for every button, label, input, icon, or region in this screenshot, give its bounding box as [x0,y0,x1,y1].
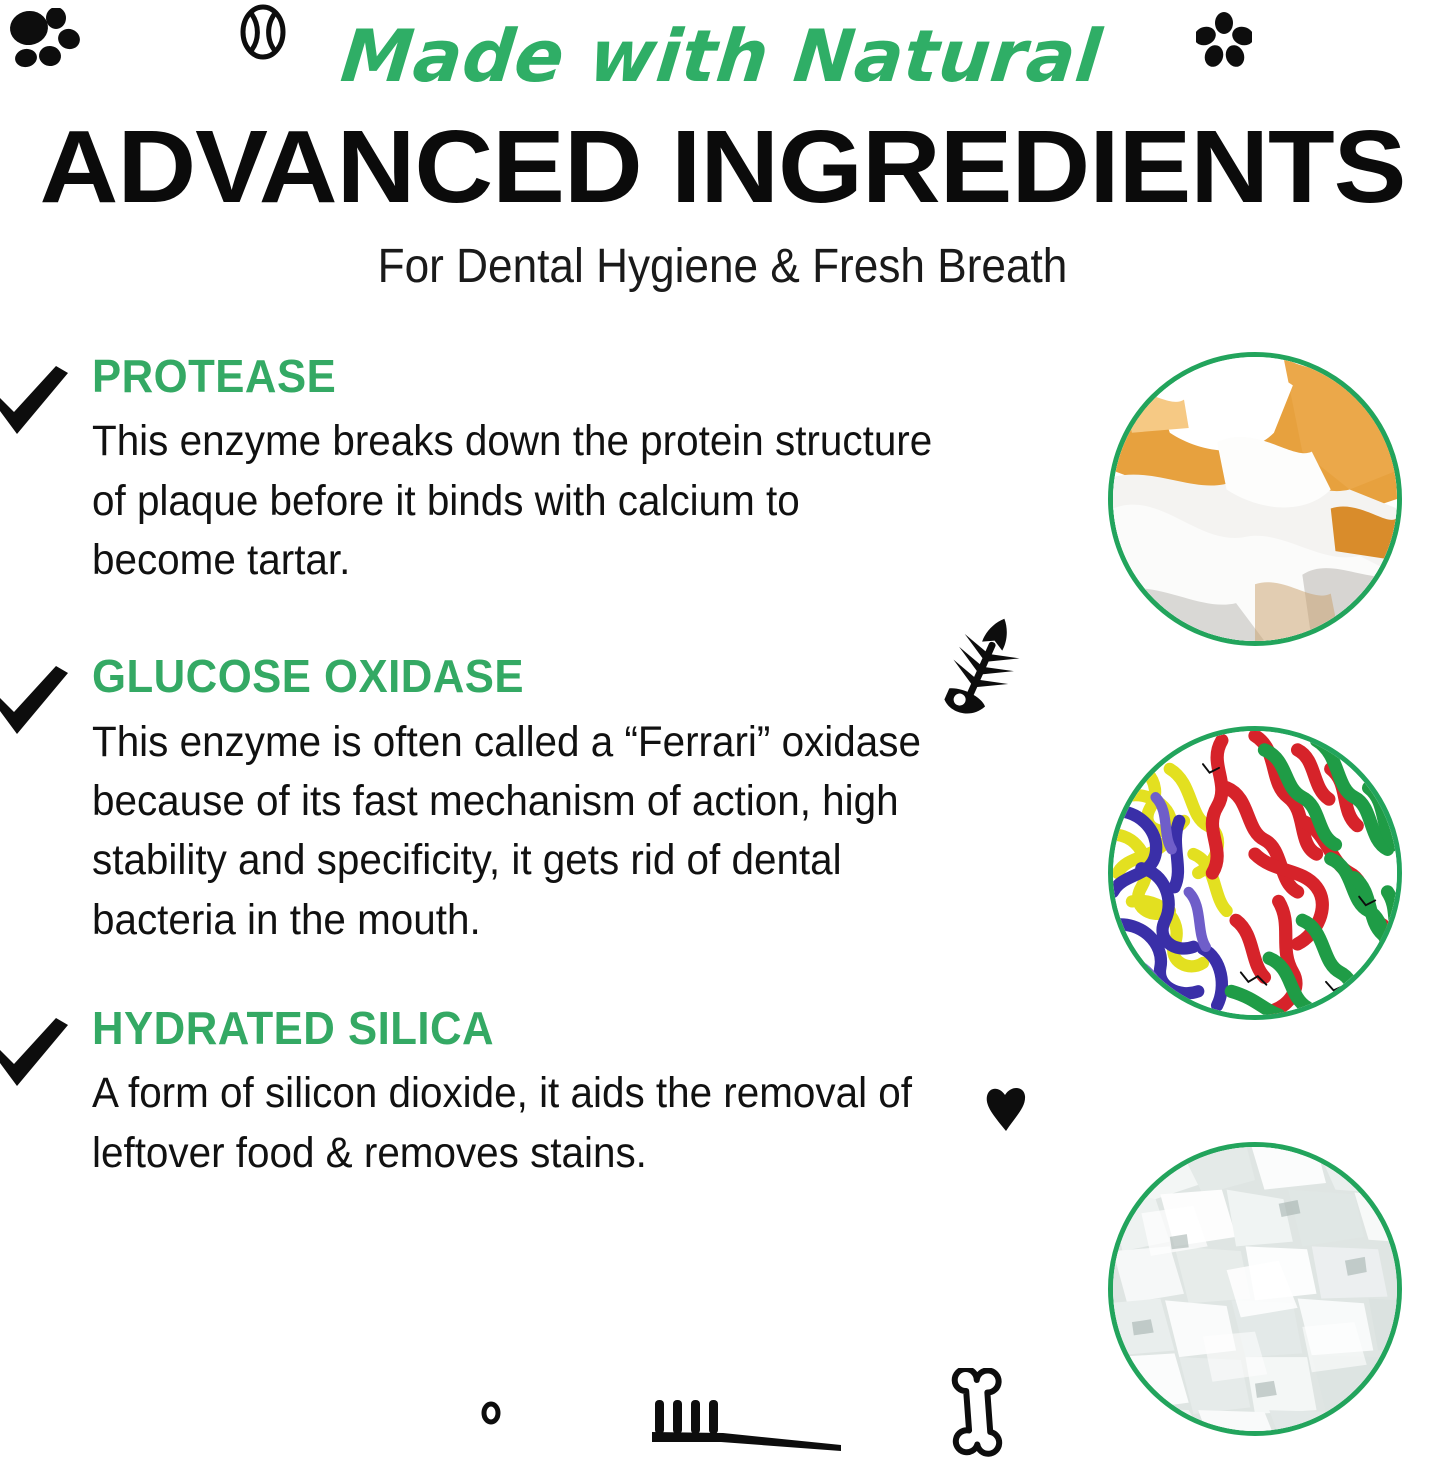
silica-crystal-photo [1108,1142,1402,1436]
ingredient-name: PROTEASE [92,352,945,400]
ingredient-text: GLUCOSE OXIDASE This enzyme is often cal… [92,652,1010,950]
ingredient-item: GLUCOSE OXIDASE This enzyme is often cal… [0,652,1010,950]
page-title: ADVANCED INGREDIENTS [0,114,1445,219]
protein-crystal-photo [1108,352,1402,646]
ingredient-list: PROTEASE This enzyme breaks down the pro… [0,352,1010,1183]
check-icon [0,352,92,436]
ingredient-description: This enzyme is often called a “Ferrari” … [92,713,936,950]
ingredient-text: PROTEASE This enzyme breaks down the pro… [92,352,1010,590]
ingredient-item: HYDRATED SILICA A form of silicon dioxid… [0,1004,1010,1183]
ring-icon [480,1400,502,1426]
ingredient-item: PROTEASE This enzyme breaks down the pro… [0,352,1010,590]
header: Made with Natural ADVANCED INGREDIENTS F… [0,0,1445,294]
ingredient-text: HYDRATED SILICA A form of silicon dioxid… [92,1004,1010,1183]
script-title: Made with Natural [0,0,1445,92]
ingredient-description: A form of silicon dioxide, it aids the r… [92,1064,936,1183]
check-icon [0,1004,92,1088]
page-subtitle: For Dental Hygiene & Fresh Breath [58,241,1387,294]
protein-ribbon-photo [1108,726,1402,1020]
ingredient-name: HYDRATED SILICA [92,1004,945,1052]
ingredient-description: This enzyme breaks down the protein stru… [92,412,936,590]
check-icon [0,652,92,736]
toothbrush-icon [645,1392,847,1454]
ingredient-name: GLUCOSE OXIDASE [92,652,945,700]
dog-bone-icon [946,1368,1020,1459]
infographic-page: Made with Natural ADVANCED INGREDIENTS F… [0,0,1445,1459]
